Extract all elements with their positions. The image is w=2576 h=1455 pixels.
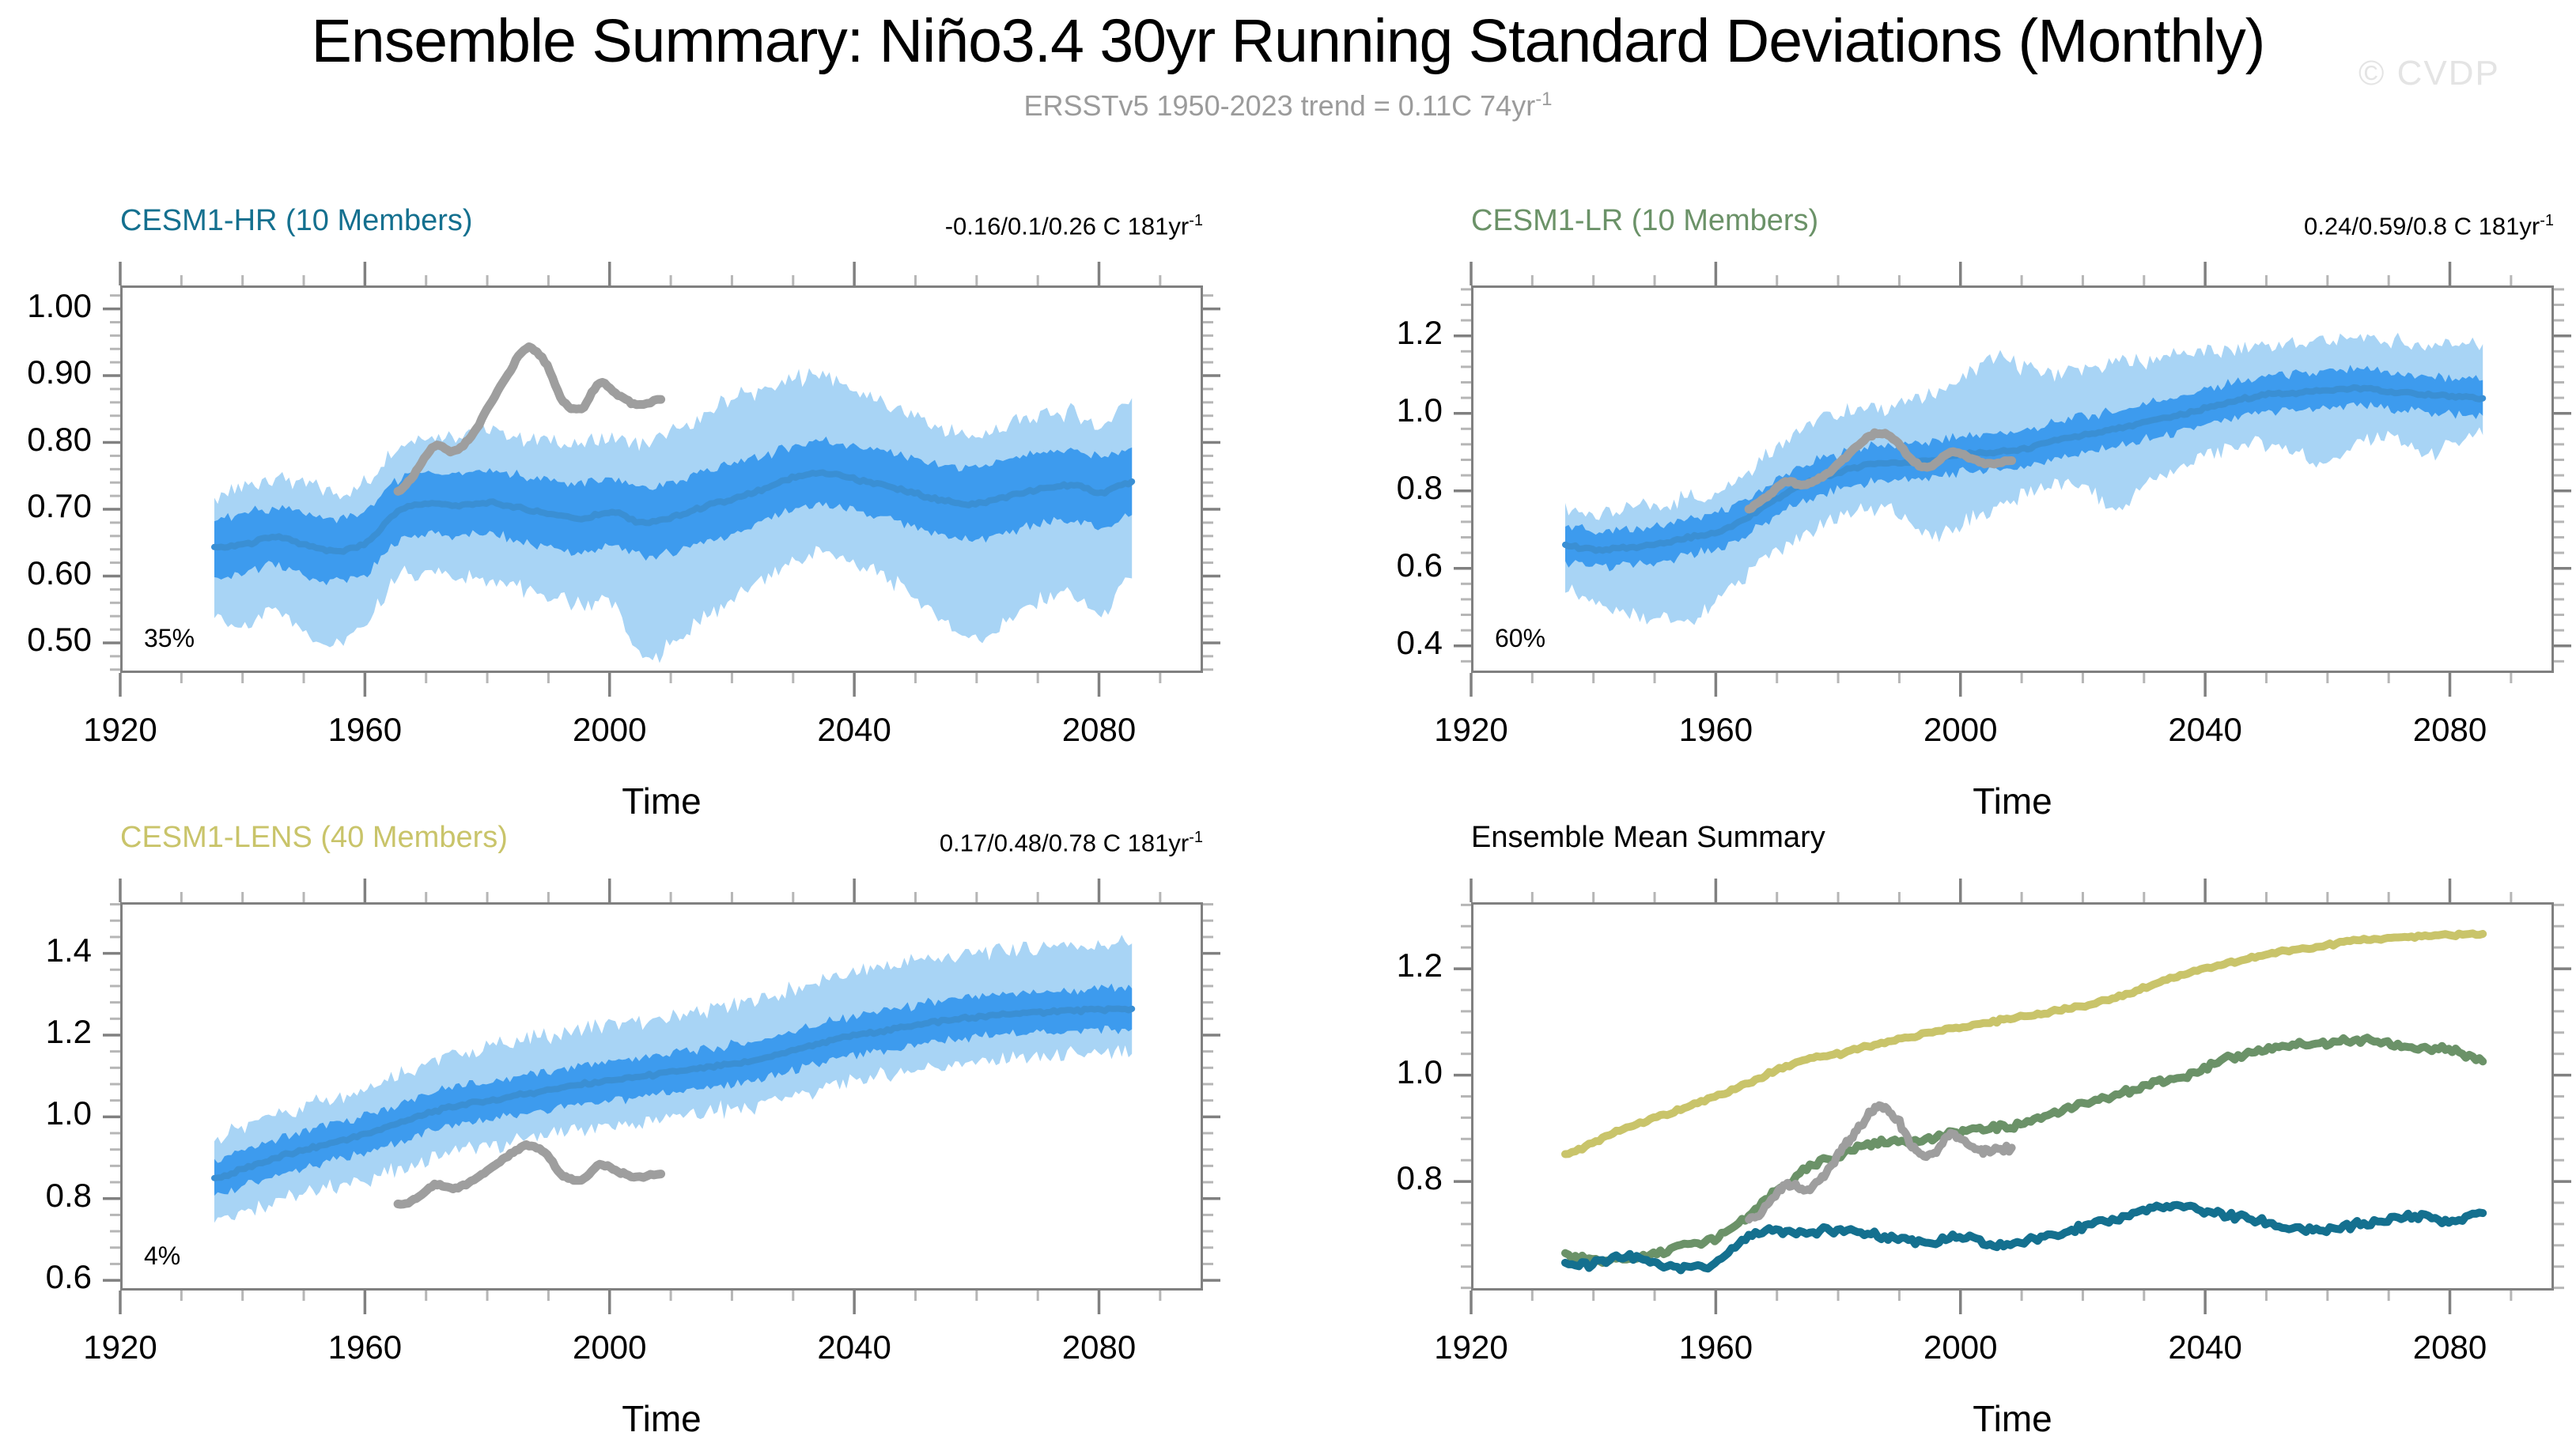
y-tick-label: 0.8 xyxy=(0,1177,92,1215)
figure-subtitle-text: ERSSTv5 1950-2023 trend = 0.11C 74yr xyxy=(1023,89,1535,122)
x-tick-label: 2000 xyxy=(507,1328,713,1366)
panel-trend-cesm1-lr: 0.24/0.59/0.8 C 181yr-1 xyxy=(0,212,2554,240)
panel-trend-exponent: -1 xyxy=(1189,829,1203,846)
plot-svg-cesm1-hr xyxy=(123,288,1203,673)
x-tick-label: 2000 xyxy=(1858,1328,2063,1366)
x-tick-label: 2080 xyxy=(2347,711,2553,749)
panel-title-ensemble-mean-summary: Ensemble Mean Summary xyxy=(1471,821,1825,855)
cvdp-watermark: © CVDP xyxy=(2358,54,2500,93)
y-tick-label: 0.50 xyxy=(0,621,92,659)
x-tick-label: 2000 xyxy=(1858,711,2063,749)
y-tick-label: 1.0 xyxy=(0,1094,92,1132)
y-tick-label: 0.70 xyxy=(0,487,92,525)
panel-trend-value: 0.24/0.59/0.8 C 181yr xyxy=(2304,212,2540,240)
x-tick-label: 1960 xyxy=(1613,1328,1818,1366)
x-tick-label: 2040 xyxy=(751,711,957,749)
y-tick-label: 1.00 xyxy=(0,287,92,325)
summary-line-ersstv5-observations xyxy=(1749,1105,2012,1220)
y-tick-label: 1.2 xyxy=(1237,314,1443,352)
y-tick-label: 0.80 xyxy=(0,421,92,459)
x-axis-label-cesm1-lr: Time xyxy=(1471,780,2554,822)
y-tick-label: 1.0 xyxy=(1237,1053,1443,1091)
y-tick-label: 0.4 xyxy=(1237,624,1443,662)
figure-subtitle: ERSSTv5 1950-2023 trend = 0.11C 74yr-1 xyxy=(0,89,2576,123)
x-tick-label: 2080 xyxy=(997,1328,1202,1366)
panel-trend-cesm1-lens: 0.17/0.48/0.78 C 181yr-1 xyxy=(0,829,1203,857)
x-tick-label: 2080 xyxy=(2347,1328,2553,1366)
percent-label-cesm1-lens: 4% xyxy=(144,1241,180,1271)
y-tick-label: 0.90 xyxy=(0,353,92,391)
y-tick-label: 0.6 xyxy=(1237,546,1443,584)
x-axis-label-cesm1-hr: Time xyxy=(120,780,1203,822)
x-tick-label: 1920 xyxy=(1368,711,1574,749)
x-tick-label: 1920 xyxy=(17,1328,223,1366)
y-tick-label: 1.2 xyxy=(0,1013,92,1051)
y-tick-label: 1.0 xyxy=(1237,391,1443,429)
y-tick-label: 0.8 xyxy=(1237,469,1443,507)
plot-area-cesm1-hr[interactable] xyxy=(120,285,1203,673)
x-tick-label: 1920 xyxy=(17,711,223,749)
x-tick-label: 2040 xyxy=(2102,711,2308,749)
percent-label-cesm1-lr: 60% xyxy=(1495,624,1545,653)
x-tick-label: 2080 xyxy=(997,711,1202,749)
plot-svg-cesm1-lr xyxy=(1473,288,2554,673)
x-tick-label: 1920 xyxy=(1368,1328,1574,1366)
plot-svg-cesm1-lens xyxy=(123,905,1203,1291)
panel-trend-exponent: -1 xyxy=(2540,212,2554,229)
y-tick-label: 0.8 xyxy=(1237,1159,1443,1197)
plot-area-ensemble-mean-summary[interactable] xyxy=(1471,902,2554,1291)
panel-trend-value: 0.17/0.48/0.78 C 181yr xyxy=(940,829,1189,856)
plot-area-cesm1-lr[interactable] xyxy=(1471,285,2554,673)
plot-area-cesm1-lens[interactable] xyxy=(120,902,1203,1291)
x-axis-label-cesm1-lens: Time xyxy=(120,1397,1203,1440)
percent-label-cesm1-hr: 35% xyxy=(144,624,195,653)
y-tick-label: 1.2 xyxy=(1237,947,1443,984)
y-tick-label: 0.60 xyxy=(0,554,92,592)
x-tick-label: 2000 xyxy=(507,711,713,749)
page-title: Ensemble Summary: Niño3.4 30yr Running S… xyxy=(0,6,2576,77)
plot-svg-ensemble-mean-summary xyxy=(1473,905,2554,1291)
x-tick-label: 2040 xyxy=(2102,1328,2308,1366)
y-tick-label: 0.6 xyxy=(0,1258,92,1296)
x-tick-label: 1960 xyxy=(262,1328,467,1366)
x-tick-label: 2040 xyxy=(751,1328,957,1366)
x-axis-label-ensemble-mean-summary: Time xyxy=(1471,1397,2554,1440)
x-tick-label: 1960 xyxy=(1613,711,1818,749)
figure-canvas: Ensemble Summary: Niño3.4 30yr Running S… xyxy=(0,0,2576,1455)
y-tick-label: 1.4 xyxy=(0,932,92,969)
summary-line-cesm1-hr xyxy=(1565,1205,2483,1271)
figure-subtitle-exponent: -1 xyxy=(1535,89,1552,110)
x-tick-label: 1960 xyxy=(262,711,467,749)
